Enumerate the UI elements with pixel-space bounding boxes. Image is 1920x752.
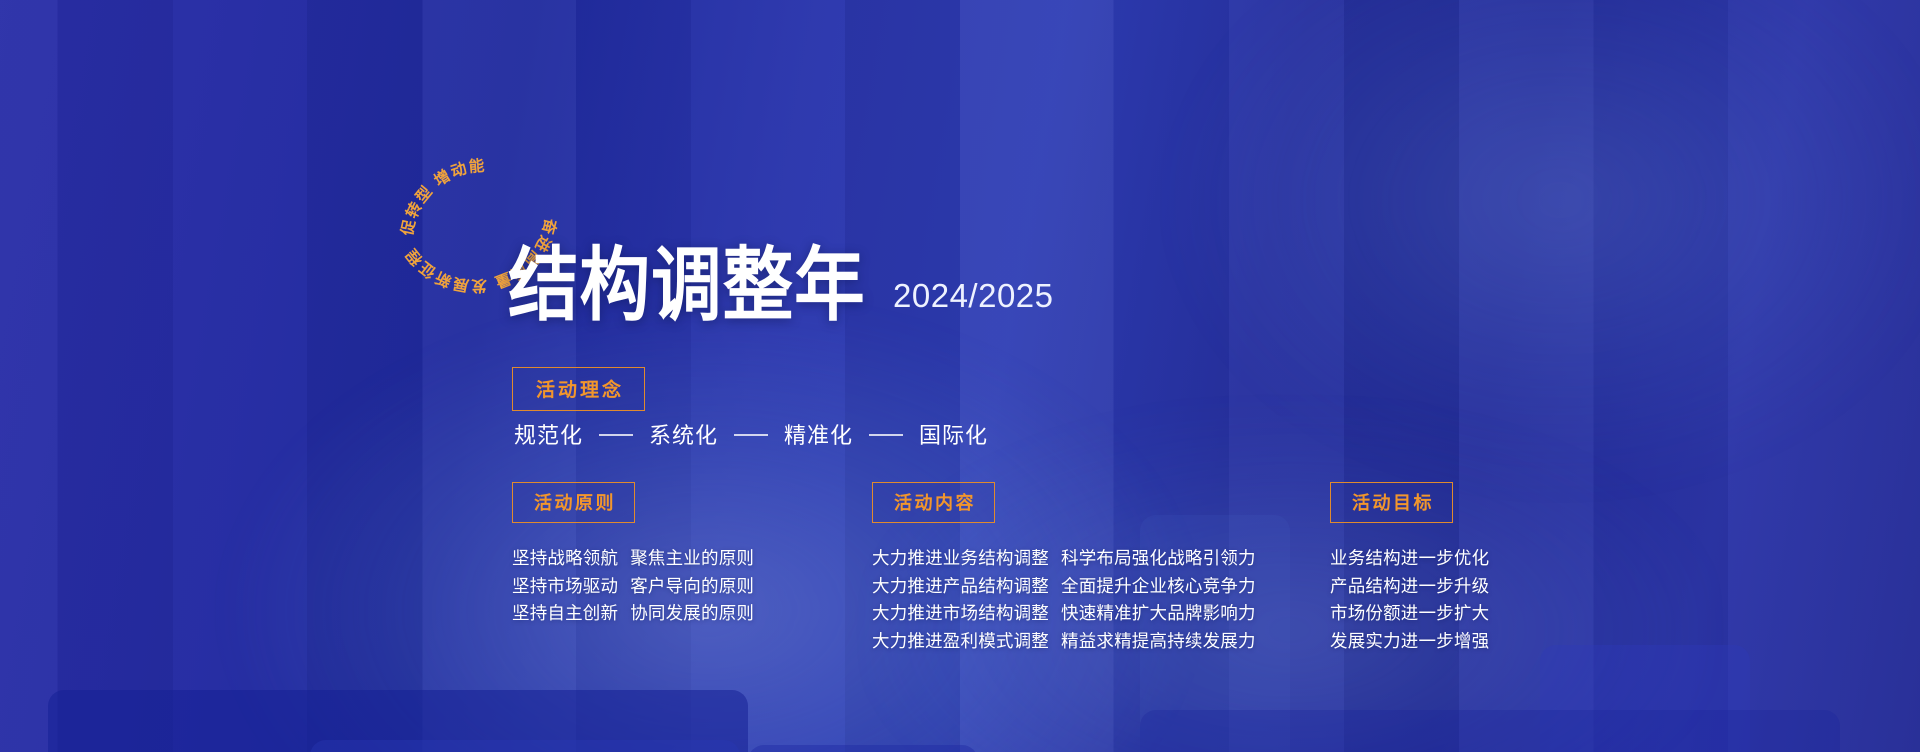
- banner-root: 促转型 增动能 奋进高质量 发展新征程 结构调整年 2024/2025 活动理念…: [0, 0, 1920, 752]
- concept-keyword: 系统化: [647, 418, 720, 450]
- column-line: 大力推进产品结构调整全面提升企业核心竞争力: [872, 573, 1256, 601]
- column-principles: 活动原则 坚持战略领航聚焦主业的原则坚持市场驱动客户导向的原则坚持自主创新协同发…: [512, 482, 754, 628]
- column-badge-row: 活动目标: [1330, 482, 1489, 523]
- seal-arc-top-text: 促转型 增动能: [397, 156, 487, 239]
- seal-arc-top: 促转型 增动能: [397, 156, 487, 239]
- column-line-left: 大力推进市场结构调整: [872, 600, 1049, 628]
- column-line: 大力推进市场结构调整快速精准扩大品牌影响力: [872, 600, 1256, 628]
- column-badge-row: 活动原则: [512, 482, 754, 523]
- column-badge-row: 活动内容: [872, 482, 1256, 523]
- column-line: 坚持战略领航聚焦主业的原则: [512, 545, 754, 573]
- column-line-left: 坚持市场驱动: [512, 573, 618, 601]
- decorative-block: [748, 745, 978, 752]
- column-line-left: 坚持战略领航: [512, 545, 618, 573]
- column-line-left: 大力推进盈利模式调整: [872, 628, 1049, 656]
- column-line: 业务结构进一步优化: [1330, 545, 1489, 573]
- badge-contents[interactable]: 活动内容: [872, 482, 995, 523]
- page-title: 结构调整年: [508, 247, 866, 324]
- column-line-right: 精益求精提高持续发展力: [1061, 628, 1256, 656]
- badge-concept[interactable]: 活动理念: [512, 367, 645, 411]
- column-line-right: 全面提升企业核心竞争力: [1061, 573, 1256, 601]
- decorative-block: [48, 690, 748, 752]
- concept-badge-wrap: 活动理念: [512, 367, 645, 411]
- column-line-right: 客户导向的原则: [630, 573, 754, 601]
- badge-goals[interactable]: 活动目标: [1330, 482, 1453, 523]
- column-line-left: 发展实力进一步增强: [1330, 628, 1489, 656]
- column-line: 坚持市场驱动客户导向的原则: [512, 573, 754, 601]
- column-list-principles: 坚持战略领航聚焦主业的原则坚持市场驱动客户导向的原则坚持自主创新协同发展的原则: [512, 545, 754, 628]
- keyword-separator: [599, 434, 633, 436]
- year-range: 2024/2025: [893, 277, 1054, 323]
- column-line-right: 聚焦主业的原则: [630, 545, 754, 573]
- column-line-right: 科学布局强化战略引领力: [1061, 545, 1256, 573]
- column-line: 坚持自主创新协同发展的原则: [512, 600, 754, 628]
- concept-keywords: 规范化系统化精准化国际化: [512, 418, 990, 450]
- concept-keyword: 国际化: [917, 418, 990, 450]
- column-line-right: 快速精准扩大品牌影响力: [1061, 600, 1256, 628]
- column-line-left: 大力推进产品结构调整: [872, 573, 1049, 601]
- concept-keyword: 精准化: [782, 418, 855, 450]
- column-line-left: 产品结构进一步升级: [1330, 573, 1489, 601]
- column-line-left: 坚持自主创新: [512, 600, 618, 628]
- column-line-left: 大力推进业务结构调整: [872, 545, 1049, 573]
- column-list-goals: 业务结构进一步优化产品结构进一步升级市场份额进一步扩大发展实力进一步增强: [1330, 545, 1489, 655]
- column-line-left: 业务结构进一步优化: [1330, 545, 1489, 573]
- title-row: 结构调整年 2024/2025: [508, 255, 1054, 323]
- column-line: 大力推进业务结构调整科学布局强化战略引领力: [872, 545, 1256, 573]
- decorative-block: [1540, 645, 1750, 752]
- column-line: 产品结构进一步升级: [1330, 573, 1489, 601]
- badge-principles[interactable]: 活动原则: [512, 482, 635, 523]
- column-line-left: 市场份额进一步扩大: [1330, 600, 1489, 628]
- column-goals: 活动目标 业务结构进一步优化产品结构进一步升级市场份额进一步扩大发展实力进一步增…: [1330, 482, 1489, 655]
- decorative-block: [1140, 710, 1840, 752]
- column-line: 市场份额进一步扩大: [1330, 600, 1489, 628]
- column-list-contents: 大力推进业务结构调整科学布局强化战略引领力大力推进产品结构调整全面提升企业核心竞…: [872, 545, 1256, 655]
- column-line-right: 协同发展的原则: [630, 600, 754, 628]
- background-glow-right: [1180, 0, 1920, 480]
- column-contents: 活动内容 大力推进业务结构调整科学布局强化战略引领力大力推进产品结构调整全面提升…: [872, 482, 1256, 655]
- decorative-block: [310, 740, 740, 752]
- column-line: 大力推进盈利模式调整精益求精提高持续发展力: [872, 628, 1256, 656]
- concept-keyword: 规范化: [512, 418, 585, 450]
- keyword-separator: [734, 434, 768, 436]
- column-line: 发展实力进一步增强: [1330, 628, 1489, 656]
- keyword-separator: [869, 434, 903, 436]
